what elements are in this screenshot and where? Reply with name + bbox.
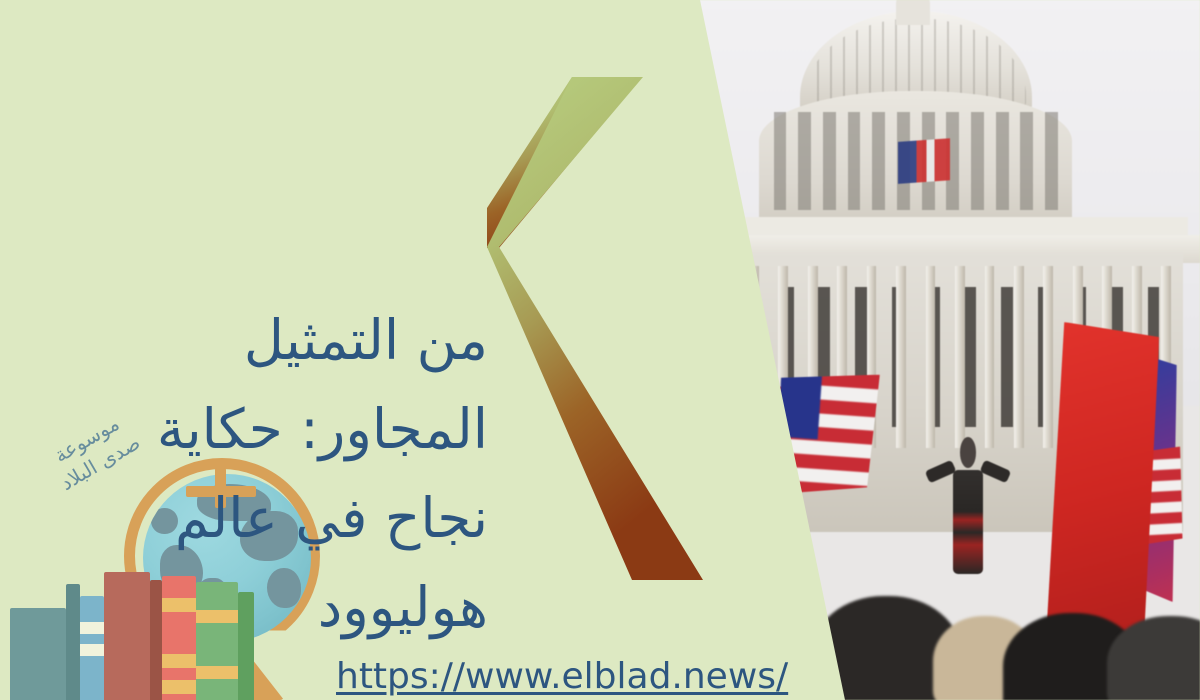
page-title: من التمثيل المجاور: حكاية نجاح في عالم ه… — [68, 296, 488, 652]
us-flag-icon — [659, 386, 802, 552]
us-capitol-protest-photo — [620, 0, 1200, 700]
us-flag-icon — [772, 368, 879, 501]
site-url-link[interactable]: https://www.elblad.news/ — [336, 656, 788, 697]
blue-flag-left — [620, 168, 690, 462]
capitol-dome-lantern — [896, 0, 931, 25]
book-teal-wide — [10, 608, 66, 700]
capitol-cornice — [643, 217, 1188, 235]
capitol-dome-flag-icon — [898, 138, 950, 184]
us-flag-icon — [626, 430, 695, 521]
poster-canvas: من التمثيل المجاور: حكاية نجاح في عالم ه… — [0, 0, 1200, 700]
